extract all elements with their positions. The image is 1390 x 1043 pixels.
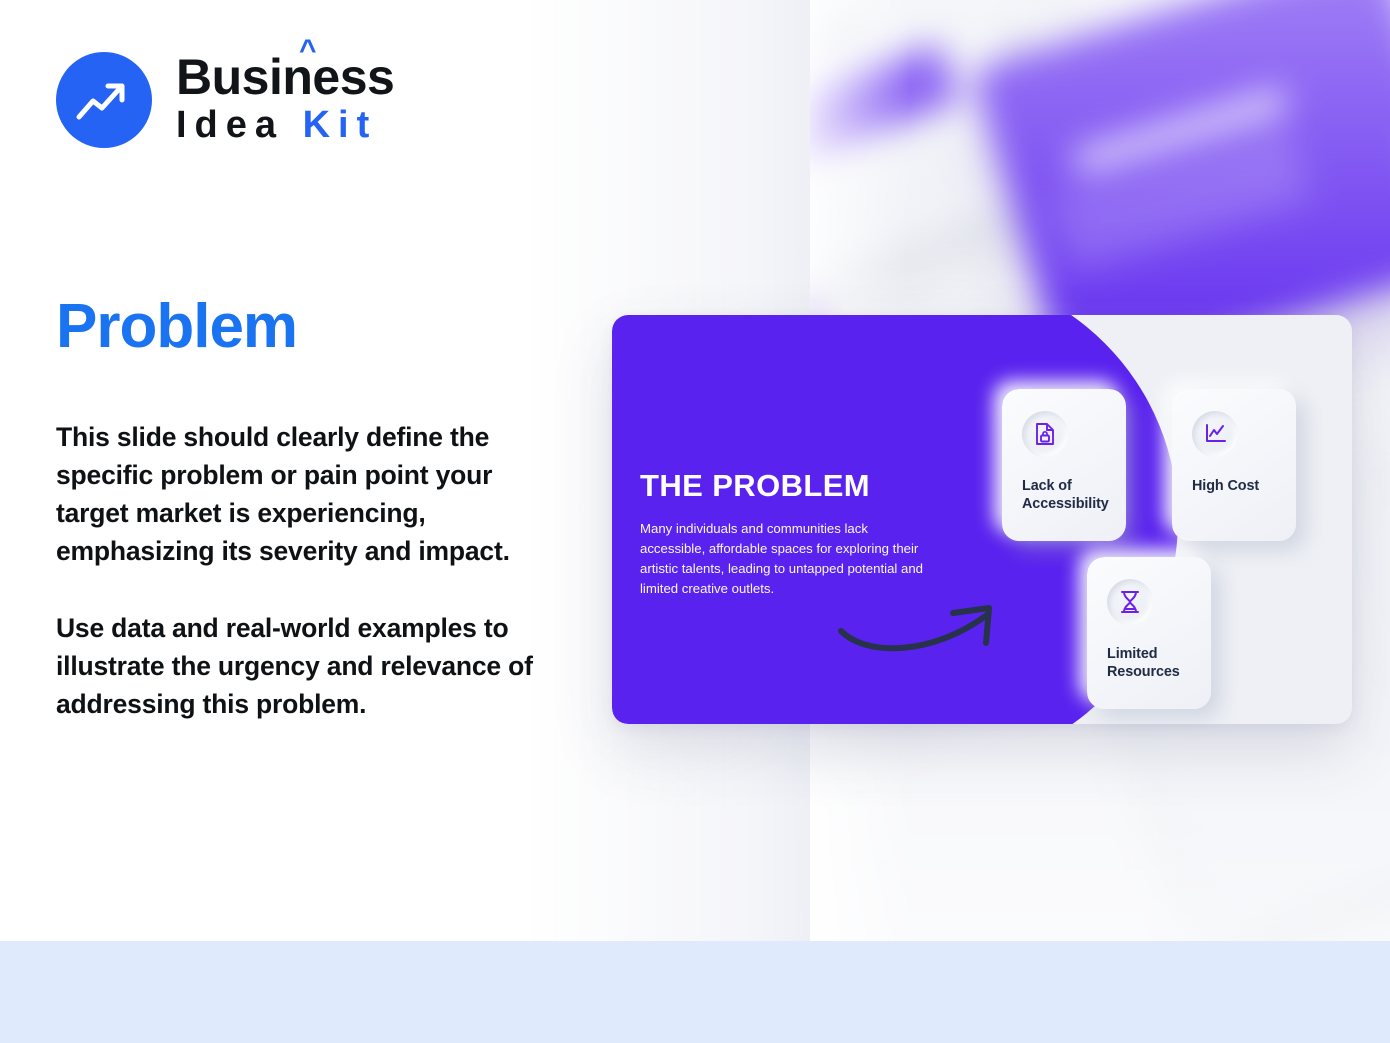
body-paragraph-1: This slide should clearly define the spe…: [56, 418, 568, 571]
left-content-column: Business ^ Idea Kit Problem This slide s…: [0, 0, 620, 941]
body-copy: This slide should clearly define the spe…: [56, 418, 568, 723]
brand-name-top: Business ^: [176, 52, 394, 102]
slide-heading-block: THE PROBLEM Many individuals and communi…: [640, 470, 940, 599]
slide-description: Many individuals and communities lack ac…: [640, 519, 932, 599]
document-lock-icon: [1022, 411, 1068, 457]
curved-arrow-up-right-icon: [837, 595, 1017, 665]
bottom-blue-band: [0, 941, 1390, 1043]
body-paragraph-2: Use data and real-world examples to illu…: [56, 609, 568, 723]
feature-card-lack-of-accessibility[interactable]: Lack of Accessibility: [1002, 389, 1126, 541]
feature-card-high-cost[interactable]: High Cost: [1172, 389, 1296, 541]
feature-card-label: High Cost: [1192, 477, 1276, 495]
page-root: Business ^ Idea Kit Problem This slide s…: [0, 0, 1390, 1043]
brand-wordmark: Business ^ Idea Kit: [176, 52, 394, 148]
trending-up-arrow-icon: [56, 52, 152, 148]
page-title: Problem: [56, 296, 297, 358]
hourglass-icon: [1107, 579, 1153, 625]
brand-logo: Business ^ Idea Kit: [56, 52, 394, 148]
brand-name-idea: Idea: [176, 104, 284, 146]
feature-card-limited-resources[interactable]: Limited Resources: [1087, 557, 1211, 709]
line-chart-icon: [1192, 411, 1238, 457]
brand-name-kit: Kit: [303, 104, 378, 146]
feature-card-label: Lack of Accessibility: [1022, 477, 1106, 514]
slide-title: THE PROBLEM: [640, 470, 940, 501]
brand-circumflex-accent: ^: [299, 36, 316, 66]
brand-name-top-text: Business: [176, 49, 394, 105]
brand-name-bottom: Idea Kit: [176, 104, 394, 148]
feature-card-label: Limited Resources: [1107, 645, 1191, 682]
